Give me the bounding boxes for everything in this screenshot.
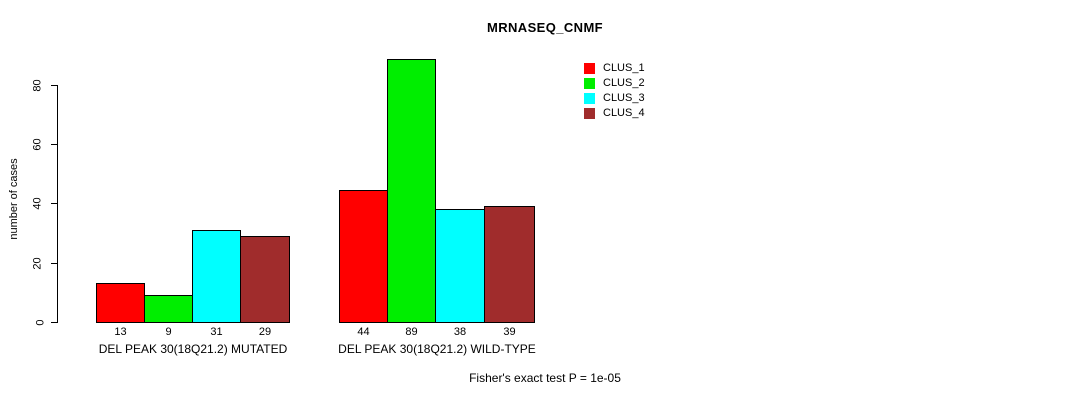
- bar-group2-clus4: [484, 206, 535, 323]
- y-tick-20: [51, 263, 57, 264]
- group-label-wildtype: DEL PEAK 30(18Q21.2) WILD-TYPE: [287, 342, 587, 356]
- bar-value-group2-clus4: 39: [484, 326, 535, 338]
- bar-value-group1-clus3: 31: [192, 326, 241, 338]
- bar-value-group2-clus2: 89: [387, 326, 436, 338]
- legend-label-clus3: CLUS_3: [603, 91, 645, 105]
- y-tick-0: [51, 322, 57, 323]
- bar-group1-clus3: [192, 230, 241, 323]
- bar-value-group2-clus3: 38: [435, 326, 485, 338]
- legend-swatch-clus2: [584, 78, 595, 89]
- y-tick-60: [51, 144, 57, 145]
- y-tick-label-0: 0: [14, 317, 44, 328]
- legend-label-clus4: CLUS_4: [603, 106, 645, 120]
- legend-label-clus1: CLUS_1: [603, 61, 645, 75]
- bar-group1-clus2: [144, 295, 193, 323]
- legend-swatch-clus3: [584, 93, 595, 104]
- bar-value-group1-clus4: 29: [240, 326, 290, 338]
- y-tick-label-80: 80: [14, 80, 44, 91]
- bar-value-group1-clus1: 13: [96, 326, 145, 338]
- bar-value-group1-clus2: 9: [144, 326, 193, 338]
- bar-group1-clus1: [96, 283, 145, 323]
- bar-value-group2-clus1: 44: [339, 326, 388, 338]
- legend-label-clus2: CLUS_2: [603, 76, 645, 90]
- bar-group2-clus3: [435, 209, 485, 323]
- legend-swatch-clus4: [584, 108, 595, 119]
- y-tick-label-20: 20: [14, 258, 44, 269]
- y-tick-label-40: 40: [14, 198, 44, 209]
- y-tick-40: [51, 203, 57, 204]
- bar-group2-clus2: [387, 59, 436, 323]
- y-tick-80: [51, 85, 57, 86]
- y-tick-label-60: 60: [14, 139, 44, 150]
- chart-title: MRNASEQ_CNMF: [0, 20, 1090, 35]
- y-axis-line: [57, 85, 58, 323]
- bar-chart: MRNASEQ_CNMF number of cases 0 20 40 60 …: [0, 0, 1090, 400]
- bar-group2-clus1: [339, 190, 388, 323]
- bar-group1-clus4: [240, 236, 290, 323]
- legend-swatch-clus1: [584, 63, 595, 74]
- fisher-test-annotation: Fisher's exact test P = 1e-05: [0, 371, 1090, 385]
